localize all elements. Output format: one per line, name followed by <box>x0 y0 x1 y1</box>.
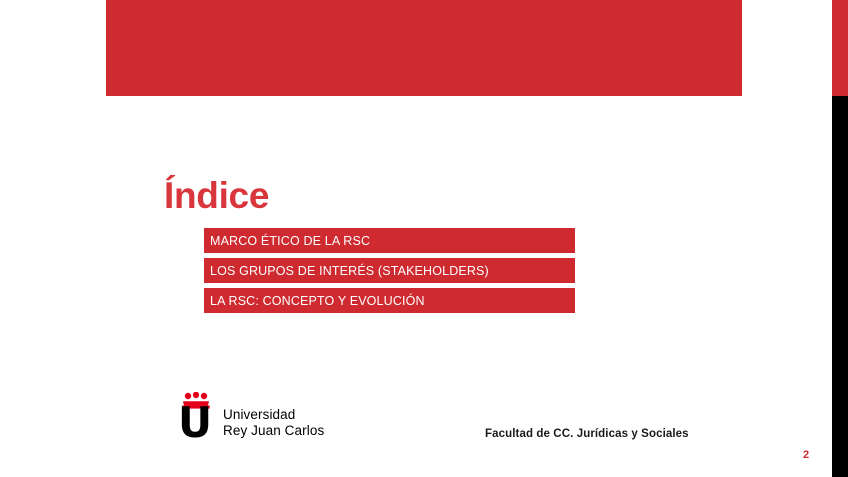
index-item-label: MARCO ÉTICO DE LA RSC <box>210 234 370 248</box>
right-edge-strip <box>832 0 848 477</box>
right-edge-strip-red-segment <box>832 0 848 96</box>
index-item-3[interactable]: LA RSC: CONCEPTO Y EVOLUCIÓN <box>204 288 575 313</box>
urjc-logo-wordmark: Universidad Rey Juan Carlos <box>223 407 324 440</box>
urjc-logo-wordmark-line1: Universidad <box>223 407 324 423</box>
presentation-slide: Índice MARCO ÉTICO DE LA RSC LOS GRUPOS … <box>0 0 848 477</box>
urjc-logo-wordmark-line2: Rey Juan Carlos <box>223 423 324 439</box>
index-item-label: LA RSC: CONCEPTO Y EVOLUCIÓN <box>210 294 425 308</box>
top-red-banner <box>106 0 742 96</box>
footer-faculty-label: Facultad de CC. Jurídicas y Sociales <box>485 428 689 440</box>
urjc-logo: U Universidad Rey Juan Carlos <box>178 392 324 440</box>
index-item-1[interactable]: MARCO ÉTICO DE LA RSC <box>204 228 575 253</box>
index-item-2[interactable]: LOS GRUPOS DE INTERÉS (STAKEHOLDERS) <box>204 258 575 283</box>
page-title: Índice <box>164 177 269 216</box>
index-list: MARCO ÉTICO DE LA RSC LOS GRUPOS DE INTE… <box>204 228 575 313</box>
urjc-logo-letter: U <box>178 408 214 440</box>
index-item-label: LOS GRUPOS DE INTERÉS (STAKEHOLDERS) <box>210 264 489 278</box>
urjc-logo-mark: U <box>178 392 214 440</box>
right-edge-strip-black-segment <box>832 96 848 477</box>
slide-number: 2 <box>803 449 809 461</box>
